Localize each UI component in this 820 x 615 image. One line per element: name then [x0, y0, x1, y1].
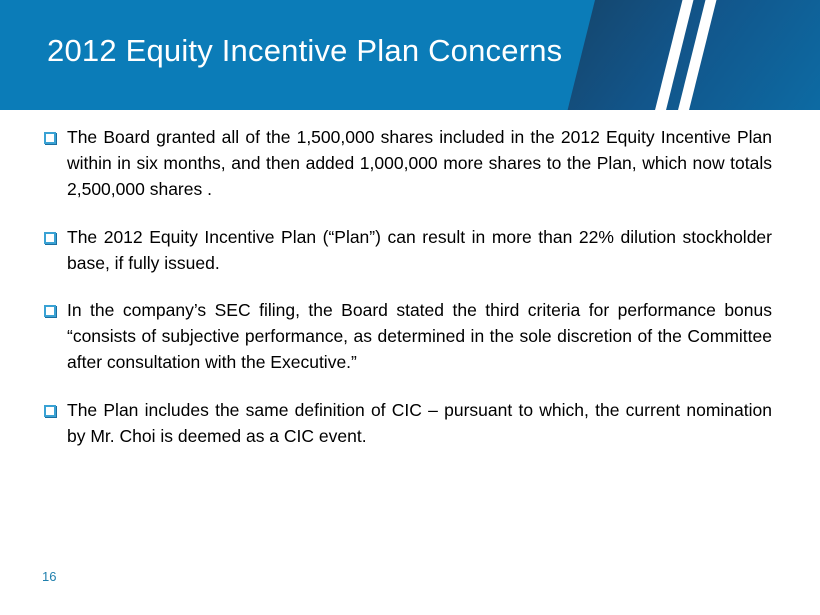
list-item-text: The 2012 Equity Incentive Plan (“Plan”) … — [67, 225, 772, 277]
title-banner: 2012 Equity Incentive Plan Concerns — [0, 0, 820, 110]
hollow-square-bullet-icon — [44, 232, 56, 244]
page-title: 2012 Equity Incentive Plan Concerns — [47, 33, 562, 69]
slide-body: The Board granted all of the 1,500,000 s… — [0, 110, 820, 472]
list-item: In the company’s SEC filing, the Board s… — [0, 298, 820, 376]
hollow-square-bullet-icon — [44, 405, 56, 417]
slide-canvas: 2012 Equity Incentive Plan Concerns The … — [0, 0, 820, 615]
bullet-list: The Board granted all of the 1,500,000 s… — [0, 110, 820, 450]
list-item-text: In the company’s SEC filing, the Board s… — [67, 298, 772, 376]
list-item: The 2012 Equity Incentive Plan (“Plan”) … — [0, 225, 820, 277]
page-number: 16 — [42, 569, 56, 584]
list-item: The Board granted all of the 1,500,000 s… — [0, 125, 820, 203]
list-item-text: The Board granted all of the 1,500,000 s… — [67, 125, 772, 203]
list-item: The Plan includes the same definition of… — [0, 398, 820, 450]
list-item-text: The Plan includes the same definition of… — [67, 398, 772, 450]
hollow-square-bullet-icon — [44, 305, 56, 317]
hollow-square-bullet-icon — [44, 132, 56, 144]
